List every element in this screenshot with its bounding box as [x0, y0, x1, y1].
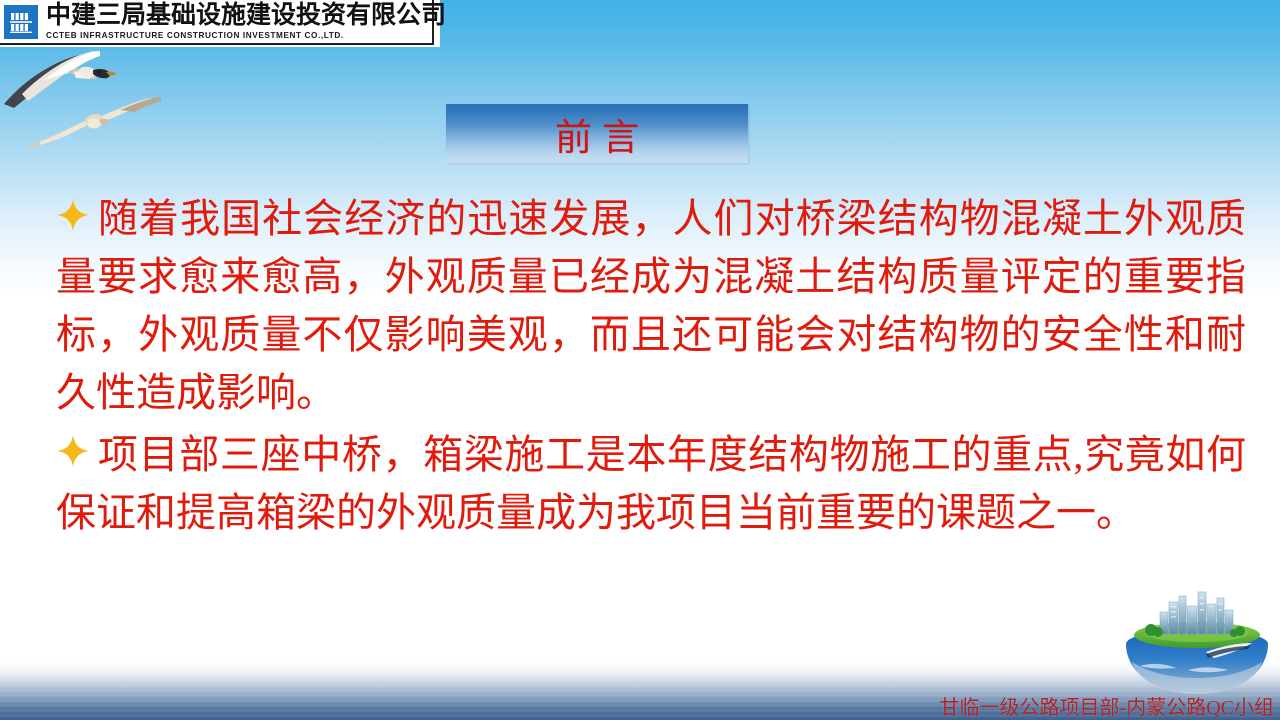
page-title: 前言	[545, 107, 649, 161]
company-name-group: 中建三局基础设施建设投资有限公司 CCTEB INFRASTRUCTURE CO…	[46, 3, 446, 40]
gold-star-bullet-icon	[56, 434, 90, 468]
earth-city-emblem-icon	[1118, 586, 1276, 708]
ccteb-logo-icon	[4, 5, 38, 39]
list-item-text: 随着我国社会经济的迅速发展，人们对桥梁结构物混凝土外观质量要求愈来愈高，外观质量…	[56, 190, 1246, 422]
footer-text: 甘临一级公路项目部-内蒙公路QC小组	[940, 691, 1274, 720]
slide-title-banner: 前言	[446, 104, 748, 163]
list-item: 项目部三座中桥，箱梁施工是本年度结构物施工的重点,究竟如何保证和提高箱梁的外观质…	[56, 426, 1246, 542]
seagulls-icon	[0, 42, 185, 162]
slide-canvas: 中建三局基础设施建设投资有限公司 CCTEB INFRASTRUCTURE CO…	[0, 0, 1280, 720]
company-name-cn: 中建三局基础设施建设投资有限公司	[46, 3, 446, 28]
content-body: 随着我国社会经济的迅速发展，人们对桥梁结构物混凝土外观质量要求愈来愈高，外观质量…	[56, 190, 1246, 544]
list-item: 随着我国社会经济的迅速发展，人们对桥梁结构物混凝土外观质量要求愈来愈高，外观质量…	[56, 190, 1246, 422]
company-name-en: CCTEB INFRASTRUCTURE CONSTRUCTION INVEST…	[46, 32, 446, 40]
company-logo-bar: 中建三局基础设施建设投资有限公司 CCTEB INFRASTRUCTURE CO…	[0, 0, 434, 45]
list-item-text: 项目部三座中桥，箱梁施工是本年度结构物施工的重点,究竟如何保证和提高箱梁的外观质…	[56, 426, 1246, 542]
gold-star-bullet-icon	[56, 198, 90, 232]
